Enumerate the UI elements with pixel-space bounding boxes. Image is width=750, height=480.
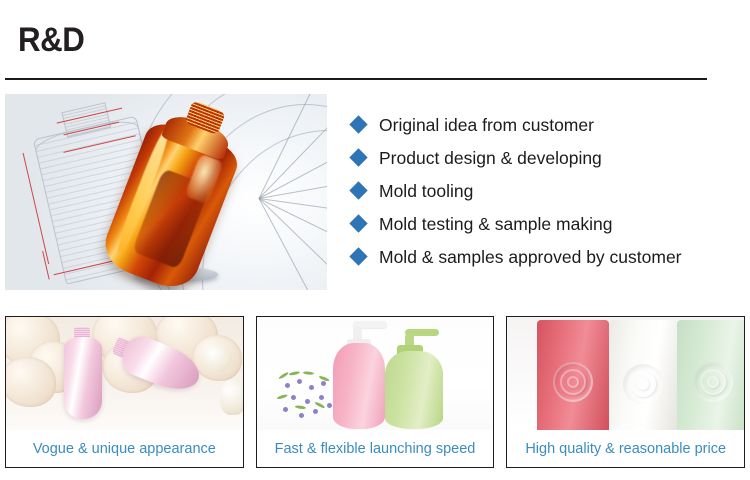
rose-emboss-icon	[623, 364, 663, 404]
list-item-label: Product design & developing	[379, 148, 602, 168]
diamond-bullet-icon	[349, 214, 367, 232]
flower	[299, 413, 304, 418]
flower	[321, 381, 326, 386]
flower	[285, 383, 290, 388]
list-item: Mold tooling	[352, 174, 744, 207]
card-photo-rose-bottles	[507, 317, 744, 430]
feature-card-vogue[interactable]: Vogue & unique appearance	[5, 316, 244, 468]
diamond-bullet-icon	[349, 115, 367, 133]
flower	[291, 395, 296, 400]
card-caption: Fast & flexible launching speed	[257, 430, 494, 467]
leaf	[276, 394, 287, 400]
leaf	[294, 405, 305, 410]
rose-bottle-green	[677, 320, 744, 430]
flower	[313, 409, 318, 414]
title-divider	[5, 78, 707, 80]
page-title: R&D	[18, 20, 84, 60]
shell	[220, 379, 243, 415]
list-item: Product design & developing	[352, 141, 744, 174]
card-photo-pump-bottles	[257, 317, 494, 430]
flower	[327, 403, 332, 408]
bottle-inner-reflection	[132, 168, 211, 269]
list-item: Mold & samples approved by customer	[352, 240, 744, 273]
rose-emboss-icon	[553, 362, 593, 402]
feature-card-launching-speed[interactable]: Fast & flexible launching speed	[256, 316, 495, 468]
list-item-label: Original idea from customer	[379, 115, 594, 135]
card-photo-pink-bottles	[6, 317, 243, 430]
flower	[283, 407, 288, 412]
card-caption: Vogue & unique appearance	[6, 430, 243, 467]
diamond-bullet-icon	[349, 181, 367, 199]
leaf	[278, 371, 289, 379]
flower	[309, 385, 314, 390]
list-item: Original idea from customer	[352, 108, 744, 141]
flower	[297, 379, 302, 384]
feature-card-row: Vogue & unique appearance	[5, 316, 745, 468]
coral-cluster	[6, 357, 56, 407]
rose-emboss-icon	[693, 362, 733, 402]
list-item-label: Mold testing & sample making	[379, 214, 612, 234]
list-item-label: Mold tooling	[379, 181, 473, 201]
green-pump-bottle	[385, 351, 443, 429]
rose-bottle-white	[609, 320, 677, 430]
list-item-label: Mold & samples approved by customer	[379, 247, 682, 267]
pink-bottle-upright	[64, 337, 102, 419]
leaf	[288, 371, 299, 376]
card-caption: High quality & reasonable price	[507, 430, 744, 467]
rnd-capability-list: Original idea from customer Product desi…	[352, 108, 744, 273]
leaf	[314, 401, 325, 409]
list-item: Mold testing & sample making	[352, 207, 744, 240]
rnd-hero-image	[5, 94, 327, 290]
rose-bottle-pink	[537, 320, 609, 430]
flower	[305, 399, 310, 404]
diamond-bullet-icon	[349, 247, 367, 265]
flower	[319, 395, 324, 400]
purple-flower-bouquet	[275, 371, 355, 429]
feature-card-quality-price[interactable]: High quality & reasonable price	[506, 316, 745, 468]
leaf	[303, 371, 314, 375]
diamond-bullet-icon	[349, 148, 367, 166]
